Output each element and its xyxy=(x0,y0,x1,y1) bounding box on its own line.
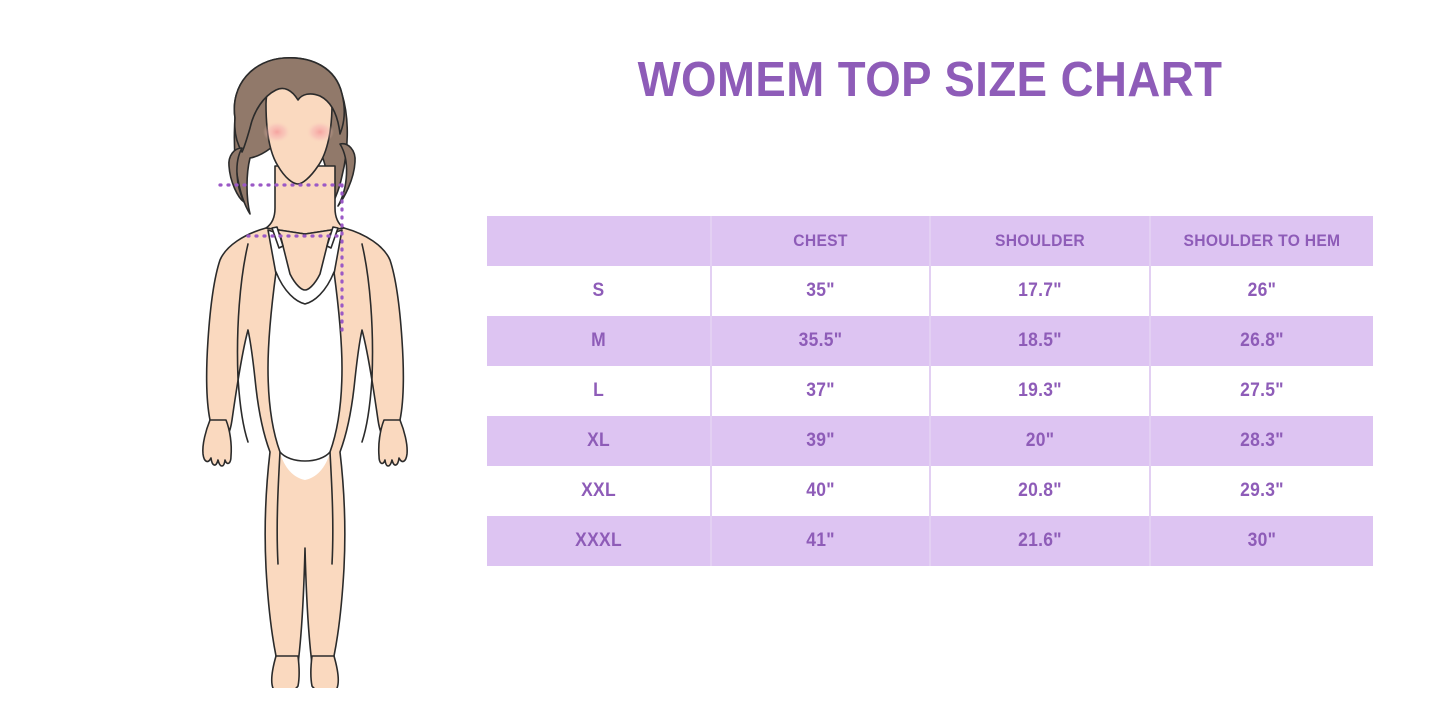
blush-left xyxy=(263,121,291,143)
cell-chest: 41" xyxy=(720,516,921,566)
column-header-shoulder: SHOULDER xyxy=(939,216,1141,266)
cell-size: S xyxy=(496,266,702,316)
table-row: M 35.5" 18.5" 26.8" xyxy=(487,316,1373,366)
foot-left xyxy=(272,656,299,688)
cell-size: XL xyxy=(496,416,702,466)
cell-hem: 29.3" xyxy=(1159,466,1364,516)
cell-hem: 26" xyxy=(1159,266,1364,316)
blush-right xyxy=(306,121,334,143)
column-header-size xyxy=(496,216,702,266)
cell-size: XXXL xyxy=(496,516,702,566)
table-header-row: CHEST SHOULDER SHOULDER TO HEM xyxy=(487,216,1373,266)
page-title: WOMEM TOP SIZE CHART xyxy=(512,52,1349,108)
foot-right xyxy=(311,656,338,688)
cell-hem: 30" xyxy=(1159,516,1364,566)
cell-shoulder: 21.6" xyxy=(939,516,1141,566)
cell-chest: 39" xyxy=(720,416,921,466)
cell-shoulder: 20" xyxy=(939,416,1141,466)
cell-hem: 27.5" xyxy=(1159,366,1364,416)
cell-chest: 35.5" xyxy=(720,316,921,366)
cell-chest: 35" xyxy=(720,266,921,316)
table-row: XL 39" 20" 28.3" xyxy=(487,416,1373,466)
cell-hem: 28.3" xyxy=(1159,416,1364,466)
cell-shoulder: 17.7" xyxy=(939,266,1141,316)
size-chart-table-wrap: CHEST SHOULDER SHOULDER TO HEM S 35" 17.… xyxy=(487,216,1373,569)
size-chart-table: CHEST SHOULDER SHOULDER TO HEM S 35" 17.… xyxy=(487,216,1373,566)
body-illustration xyxy=(180,48,430,688)
cell-size: M xyxy=(496,316,702,366)
cell-shoulder: 18.5" xyxy=(939,316,1141,366)
size-chart-page: WOMEM TOP SIZE CHART xyxy=(0,0,1445,723)
cell-shoulder: 20.8" xyxy=(939,466,1141,516)
cell-shoulder: 19.3" xyxy=(939,366,1141,416)
hand-left xyxy=(203,420,231,466)
cell-size: XXL xyxy=(496,466,702,516)
cell-size: L xyxy=(496,366,702,416)
figure-panel: SHOULDER CHEST SHOULDER TO HEM xyxy=(0,0,470,723)
cell-hem: 26.8" xyxy=(1159,316,1364,366)
table-row: XXL 40" 20.8" 29.3" xyxy=(487,466,1373,516)
column-header-hem: SHOULDER TO HEM xyxy=(1159,216,1364,266)
table-row: L 37" 19.3" 27.5" xyxy=(487,366,1373,416)
hand-right xyxy=(379,420,407,466)
table-row: S 35" 17.7" 26" xyxy=(487,266,1373,316)
cell-chest: 40" xyxy=(720,466,921,516)
cell-chest: 37" xyxy=(720,366,921,416)
table-row: XXXL 41" 21.6" 30" xyxy=(487,516,1373,566)
column-header-chest: CHEST xyxy=(720,216,921,266)
